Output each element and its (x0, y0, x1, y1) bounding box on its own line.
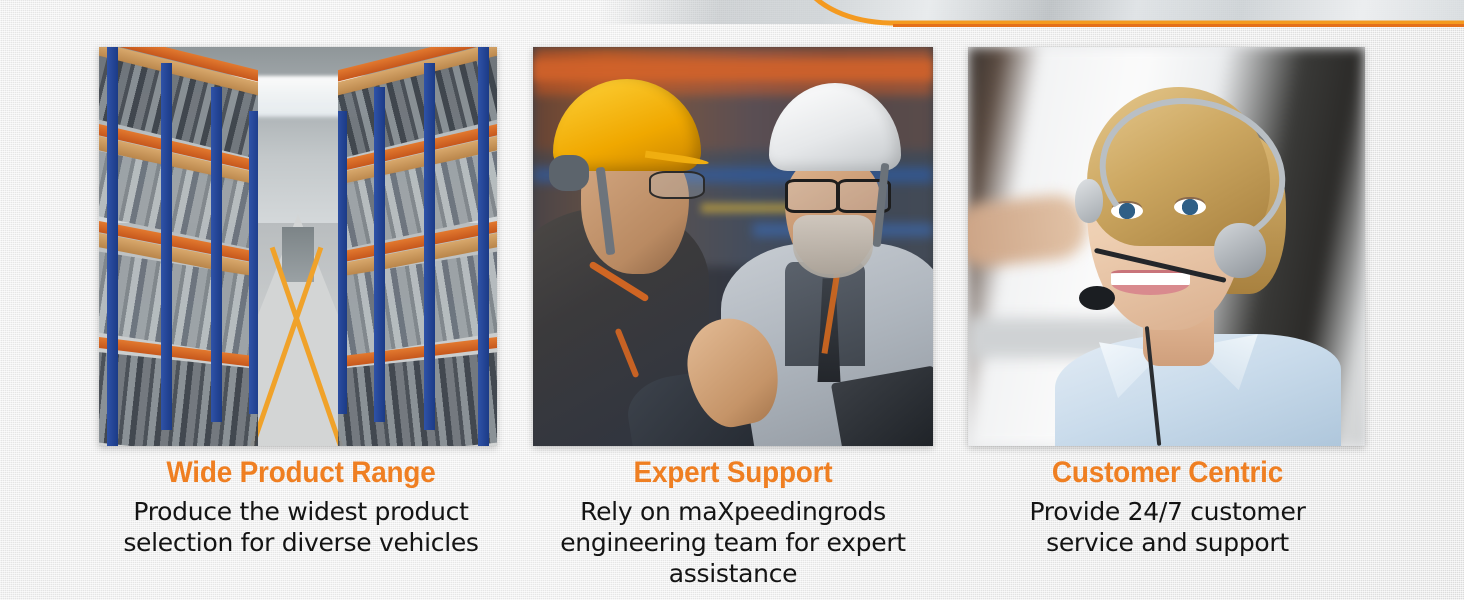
card-title: Expert Support (516, 455, 949, 491)
warehouse-aisle-photo (99, 47, 497, 446)
card-description: Provide 24/7 customer service and suppor… (945, 496, 1390, 558)
card-caption: Wide Product Range Produce the widest pr… (55, 455, 547, 558)
card-caption: Expert Support Rely on maXpeedingrods en… (500, 455, 966, 589)
card-description: Produce the widest product selection for… (55, 496, 547, 558)
card-caption: Customer Centric Provide 24/7 customer s… (945, 455, 1390, 558)
feature-cards-row: Wide Product Range Produce the widest pr… (0, 0, 1464, 600)
card-title: Customer Centric (961, 455, 1375, 491)
card-title: Wide Product Range (72, 455, 530, 491)
engineers-discussion-photo (533, 47, 933, 446)
customer-service-agent-photo (968, 47, 1365, 446)
card-description: Rely on maXpeedingrods engineering team … (500, 496, 966, 589)
